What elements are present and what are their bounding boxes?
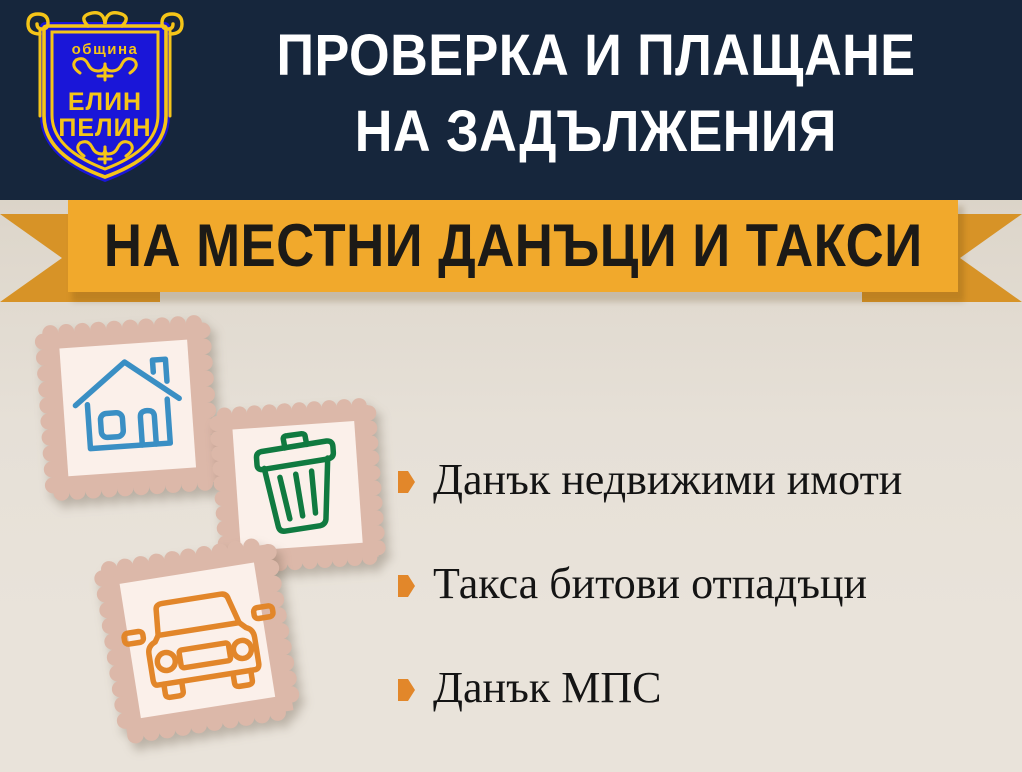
ribbon-panel: НА МЕСТНИ ДАНЪЦИ И ТАКСИ bbox=[68, 200, 958, 292]
list-item-label: Данък МПС bbox=[433, 663, 661, 713]
poster-title: ПРОВЕРКА И ПЛАЩАНЕ НА ЗАДЪЛЖЕНИЯ bbox=[190, 18, 1002, 183]
tax-type-list: Данък недвижими имоти Такса битови отпад… bbox=[398, 428, 1008, 740]
poster-root: община ЕЛИН ПЕЛИН ПРОВЕРКА И ПЛАЩАНЕ НА … bbox=[0, 0, 1022, 772]
svg-text:ПЕЛИН: ПЕЛИН bbox=[58, 114, 151, 142]
title-line-1: ПРОВЕРКА И ПЛАЩАНЕ bbox=[276, 18, 915, 94]
bullet-arrow-icon bbox=[398, 575, 415, 597]
svg-text:ЕЛИН: ЕЛИН bbox=[68, 88, 142, 116]
list-item[interactable]: Такса битови отпадъци bbox=[398, 532, 1008, 636]
bullet-arrow-icon bbox=[398, 471, 415, 493]
list-item[interactable]: Данък МПС bbox=[398, 636, 1008, 740]
title-line-2: НА ЗАДЪЛЖЕНИЯ bbox=[355, 94, 837, 170]
bullet-arrow-icon bbox=[398, 679, 415, 701]
list-item-label: Такса битови отпадъци bbox=[433, 559, 867, 609]
subtitle-ribbon: НА МЕСТНИ ДАНЪЦИ И ТАКСИ bbox=[0, 198, 1022, 306]
municipal-crest-logo: община ЕЛИН ПЕЛИН bbox=[22, 8, 188, 190]
svg-text:община: община bbox=[72, 41, 139, 58]
list-item-label: Данък недвижими имоти bbox=[433, 455, 902, 505]
list-item[interactable]: Данък недвижими имоти bbox=[398, 428, 1008, 532]
stamp-card-vehicle-tax bbox=[82, 528, 318, 760]
ribbon-label: НА МЕСТНИ ДАНЪЦИ И ТАКСИ bbox=[104, 216, 923, 276]
